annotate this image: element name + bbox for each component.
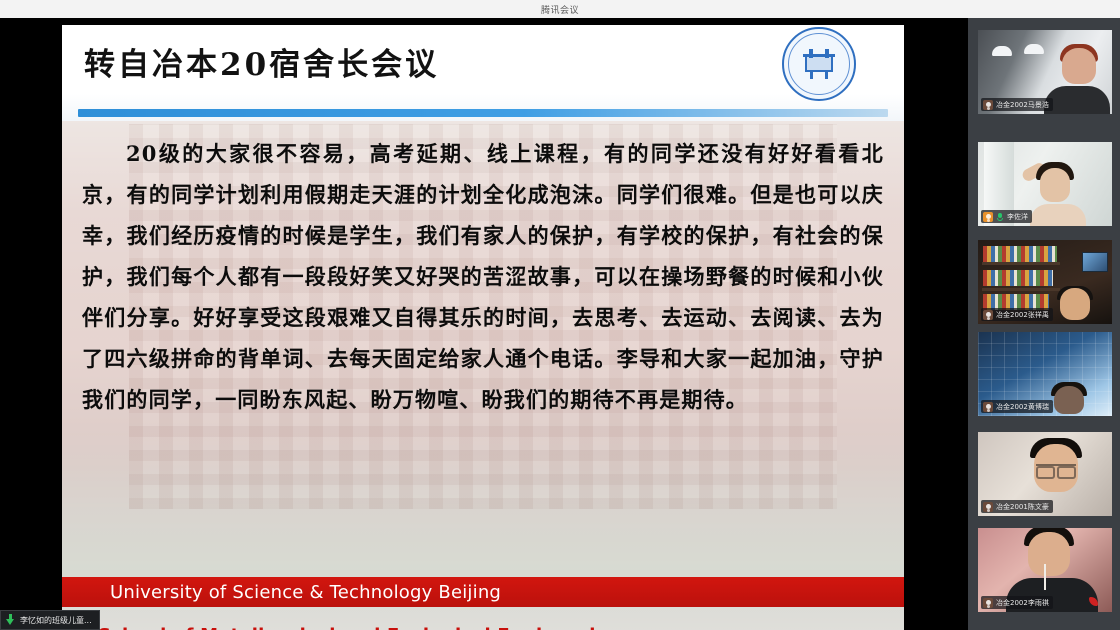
participant-tile-6[interactable]: 冶金2002李雨祺 (978, 528, 1112, 612)
title-underline-rule (78, 109, 888, 117)
footer-university-text: University of Science & Technology Beiji… (110, 582, 501, 603)
avatar (983, 100, 993, 110)
footer-university-banner: University of Science & Technology Beiji… (62, 577, 904, 607)
participant-tile-3[interactable]: 冶金2002张祥禹 (978, 240, 1112, 324)
avatar (983, 598, 993, 608)
download-notification-toast[interactable]: 李忆如的班级儿童... (0, 610, 100, 630)
name-label: 李佐洋 (981, 210, 1032, 223)
shared-content-stage[interactable]: 转自冶本20宿舍长会议 20级的大家很不容易，高考延期、线上课程，有的同学还没有… (0, 18, 968, 630)
download-arrow-icon (5, 614, 16, 626)
participant-tile-2[interactable]: 李佐洋 (978, 142, 1112, 226)
slide-title: 转自冶本20宿舍长会议 (84, 39, 439, 84)
presentation-slide: 转自冶本20宿舍长会议 20级的大家很不容易，高考延期、线上课程，有的同学还没有… (62, 25, 904, 630)
avatar (983, 212, 993, 222)
participant-tile-1[interactable]: 冶金2002马景浩 (978, 30, 1112, 114)
avatar (983, 402, 993, 412)
participant-tile-4[interactable]: 冶金2002黄博瑞 (978, 332, 1112, 416)
avatar (983, 502, 993, 512)
avatar (983, 310, 993, 320)
window-titlebar: 腾讯会议 (0, 0, 1120, 18)
participant-tile-5[interactable]: 冶金2001陈文豪 (978, 432, 1112, 516)
participant-name: 冶金2002黄博瑞 (996, 402, 1049, 412)
name-label: 冶金2002张祥禹 (981, 308, 1053, 321)
ding-vessel-icon (802, 49, 836, 79)
participant-filmstrip[interactable]: 冶金2001 冶金2002马景浩 李佐洋 (968, 0, 1120, 630)
slide-title-band: 转自冶本20宿舍长会议 (62, 25, 904, 121)
participant-name: 冶金2001陈文豪 (996, 502, 1049, 512)
name-label: 冶金2001陈文豪 (981, 500, 1053, 513)
download-toast-text: 李忆如的班级儿童... (20, 615, 92, 626)
microphone-on-icon (996, 212, 1004, 222)
footer-school-text: School of Metallurgical and Ecological E… (98, 625, 658, 630)
participant-name: 李佐洋 (1007, 212, 1028, 222)
ustb-seal-logo (782, 27, 856, 101)
slide-body-text: 20级的大家很不容易，高考延期、线上课程，有的同学还没有好好看看北京，有的同学计… (82, 133, 884, 420)
tencent-meeting-window: 腾讯会议 转自冶本20宿舍长会议 20级的大家很不容易，高考延期、线上课程，有的… (0, 0, 1120, 630)
name-label: 冶金2002黄博瑞 (981, 400, 1053, 413)
participant-name: 冶金2002李雨祺 (996, 598, 1049, 608)
app-title: 腾讯会议 (541, 3, 579, 16)
name-label: 冶金2002马景浩 (981, 98, 1053, 111)
participant-name: 冶金2002张祥禹 (996, 310, 1049, 320)
participant-name: 冶金2002马景浩 (996, 100, 1049, 110)
name-label: 冶金2002李雨祺 (981, 596, 1053, 609)
